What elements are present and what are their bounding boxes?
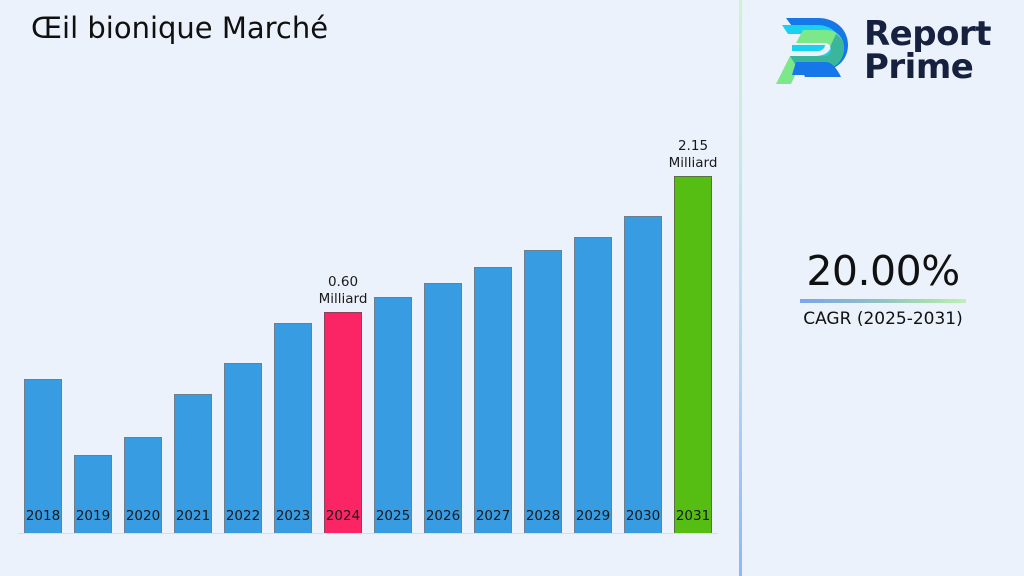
x-tick-2029: 2029	[568, 508, 618, 525]
bar-group-2029: 2029	[568, 142, 618, 533]
bar-value-label-2024: 0.60Milliard	[314, 274, 372, 308]
cagr-block: 20.00% CAGR (2025-2031)	[742, 247, 1024, 330]
bar-group-2018: 2018	[18, 142, 68, 533]
x-tick-2030: 2030	[618, 508, 668, 525]
bar-chart: 2018201920202021202220230.60Milliard2024…	[0, 100, 740, 576]
page-title: Œil bionique Marché	[31, 10, 328, 46]
right-panel: Report Prime 20.00% CAGR (2025-2031)	[742, 0, 1024, 576]
x-tick-2026: 2026	[418, 508, 468, 525]
bar-group-2026: 2026	[418, 142, 468, 533]
bar-group-2020: 2020	[118, 142, 168, 533]
x-tick-2027: 2027	[468, 508, 518, 525]
bar-2023[interactable]	[274, 323, 312, 533]
cagr-divider	[800, 299, 966, 303]
bar-group-2022: 2022	[218, 142, 268, 533]
x-tick-2020: 2020	[118, 508, 168, 525]
bar-2029[interactable]	[574, 237, 612, 533]
bar-unit-2024: Milliard	[314, 291, 372, 308]
brand-name-line2: Prime	[864, 51, 991, 84]
brand-logo: Report Prime	[772, 8, 1012, 94]
bar-value-label-2031: 2.15Milliard	[664, 138, 722, 172]
x-tick-2024: 2024	[318, 508, 368, 525]
x-tick-2021: 2021	[168, 508, 218, 525]
bar-group-2028: 2028	[518, 142, 568, 533]
x-tick-2022: 2022	[218, 508, 268, 525]
report-prime-r-logo-icon	[772, 14, 854, 88]
bar-2027[interactable]	[474, 267, 512, 533]
x-tick-2031: 2031	[668, 508, 718, 525]
brand-name: Report Prime	[864, 18, 991, 85]
bar-2031[interactable]	[674, 176, 712, 533]
x-tick-2018: 2018	[18, 508, 68, 525]
bar-group-2019: 2019	[68, 142, 118, 533]
bar-group-2021: 2021	[168, 142, 218, 533]
bar-group-2030: 2030	[618, 142, 668, 533]
bar-2030[interactable]	[624, 216, 662, 533]
bar-value-2031: 2.15	[664, 138, 722, 155]
bar-value-2024: 0.60	[314, 274, 372, 291]
cagr-caption: CAGR (2025-2031)	[742, 308, 1024, 330]
bar-group-2031: 2.15Milliard2031	[668, 142, 718, 533]
bar-2025[interactable]	[374, 297, 412, 533]
chart-page: Œil bionique Marché 20182019202020212022…	[0, 0, 1024, 576]
bar-2028[interactable]	[524, 250, 562, 533]
bar-group-2024: 0.60Milliard2024	[318, 142, 368, 533]
x-axis-line	[18, 533, 718, 534]
x-tick-2023: 2023	[268, 508, 318, 525]
bar-group-2023: 2023	[268, 142, 318, 533]
x-tick-2019: 2019	[68, 508, 118, 525]
bar-2026[interactable]	[424, 283, 462, 533]
x-tick-2025: 2025	[368, 508, 418, 525]
bar-group-2025: 2025	[368, 142, 418, 533]
bar-2024[interactable]	[324, 312, 362, 533]
x-tick-2028: 2028	[518, 508, 568, 525]
bar-unit-2031: Milliard	[664, 155, 722, 172]
bar-group-2027: 2027	[468, 142, 518, 533]
cagr-value: 20.00%	[742, 247, 1024, 295]
brand-name-line1: Report	[864, 18, 991, 51]
